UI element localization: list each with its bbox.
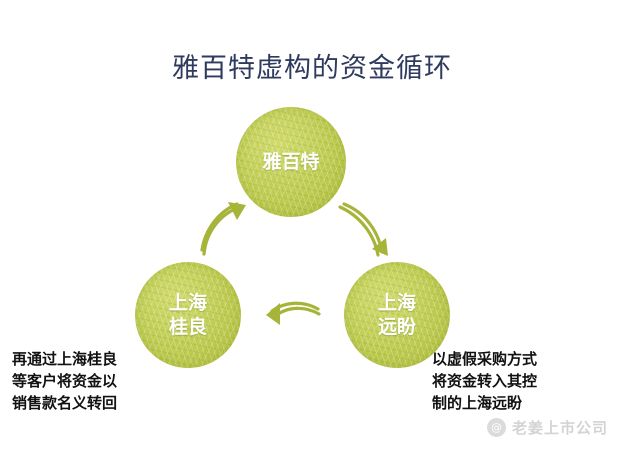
watermark: @ 老姜上市公司	[487, 417, 608, 438]
node-label: 雅百特	[262, 150, 319, 174]
caption-right: 以虚假采购方式 将资金转入其控 制的上海远盼	[432, 348, 537, 414]
diagram-canvas: 雅百特虚构的资金循环 雅	[0, 0, 624, 450]
at-sign-icon: @	[487, 418, 506, 437]
watermark-text: 老姜上市公司	[512, 417, 608, 438]
curved-arrow-icon-left-to-top	[196, 198, 258, 260]
curved-arrow-icon-right-to-left	[258, 295, 324, 343]
node-label: 上海 远盼	[378, 291, 416, 339]
curved-arrow-icon-top-to-right	[330, 198, 392, 260]
node-yabaite[interactable]: 雅百特	[236, 107, 346, 217]
node-label: 上海 桂良	[169, 291, 207, 339]
page-title: 雅百特虚构的资金循环	[0, 52, 624, 86]
node-shanghai-guiliang[interactable]: 上海 桂良	[135, 262, 241, 368]
caption-left: 再通过上海桂良 等客户将资金以 销售款名义转回	[12, 348, 117, 414]
